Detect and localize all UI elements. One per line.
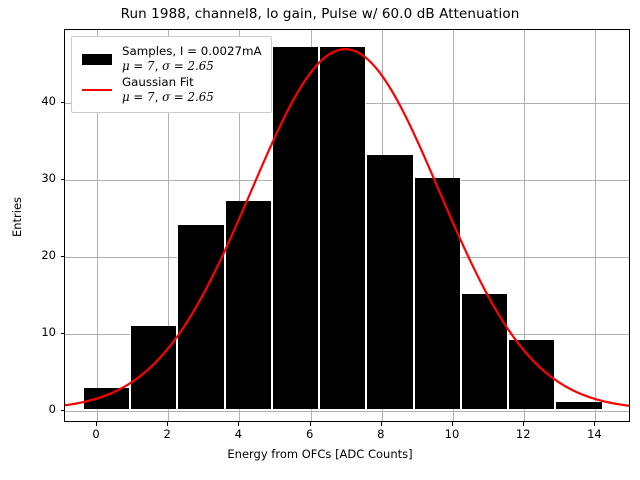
legend-label-gaussian-fit: Gaussian Fit μ = 7, σ = 2.65 xyxy=(122,75,214,105)
x-tick xyxy=(381,422,382,426)
y-tick xyxy=(61,179,65,180)
legend-fit-line1: Gaussian Fit xyxy=(122,75,194,89)
legend-fit-sigma: σ = 2.65 xyxy=(162,90,214,104)
x-axis-label: Energy from OFCs [ADC Counts] xyxy=(0,447,640,461)
legend-swatch-line-icon xyxy=(79,89,115,91)
legend-item-samples: Samples, I = 0.0027mA μ = 7, σ = 2.65 xyxy=(79,44,262,74)
legend-samples-sigma: σ = 2.65 xyxy=(162,59,214,73)
x-tick xyxy=(238,422,239,426)
y-tick xyxy=(61,256,65,257)
y-tick-label: 40 xyxy=(16,94,56,108)
x-tick-label: 6 xyxy=(290,427,330,441)
x-tick-label: 14 xyxy=(574,427,614,441)
legend-fit-mu: μ = 7 xyxy=(122,90,155,104)
x-tick-label: 0 xyxy=(76,427,116,441)
x-tick xyxy=(452,422,453,426)
legend-samples-line1: Samples, I = 0.0027mA xyxy=(122,44,262,58)
figure-canvas: Run 1988, channel8, lo gain, Pulse w/ 60… xyxy=(0,0,640,480)
y-tick xyxy=(61,333,65,334)
legend: Samples, I = 0.0027mA μ = 7, σ = 2.65 Ga… xyxy=(71,36,272,113)
y-axis-label: Entries xyxy=(10,157,24,277)
y-tick xyxy=(61,410,65,411)
y-tick xyxy=(61,102,65,103)
x-tick-label: 10 xyxy=(432,427,472,441)
page-title: Run 1988, channel8, lo gain, Pulse w/ 60… xyxy=(0,6,640,22)
x-tick-label: 2 xyxy=(147,427,187,441)
legend-samples-mu: μ = 7 xyxy=(122,59,155,73)
x-tick-label: 4 xyxy=(218,427,258,441)
x-tick xyxy=(523,422,524,426)
x-tick xyxy=(310,422,311,426)
legend-swatch-histogram-icon xyxy=(79,54,115,65)
x-tick-label: 12 xyxy=(503,427,543,441)
legend-item-gaussian-fit: Gaussian Fit μ = 7, σ = 2.65 xyxy=(79,75,262,105)
y-tick-label: 0 xyxy=(16,402,56,416)
legend-label-samples: Samples, I = 0.0027mA μ = 7, σ = 2.65 xyxy=(122,44,262,74)
x-tick xyxy=(594,422,595,426)
y-tick-label: 10 xyxy=(16,325,56,339)
x-tick xyxy=(96,422,97,426)
x-tick-label: 8 xyxy=(361,427,401,441)
x-tick xyxy=(167,422,168,426)
